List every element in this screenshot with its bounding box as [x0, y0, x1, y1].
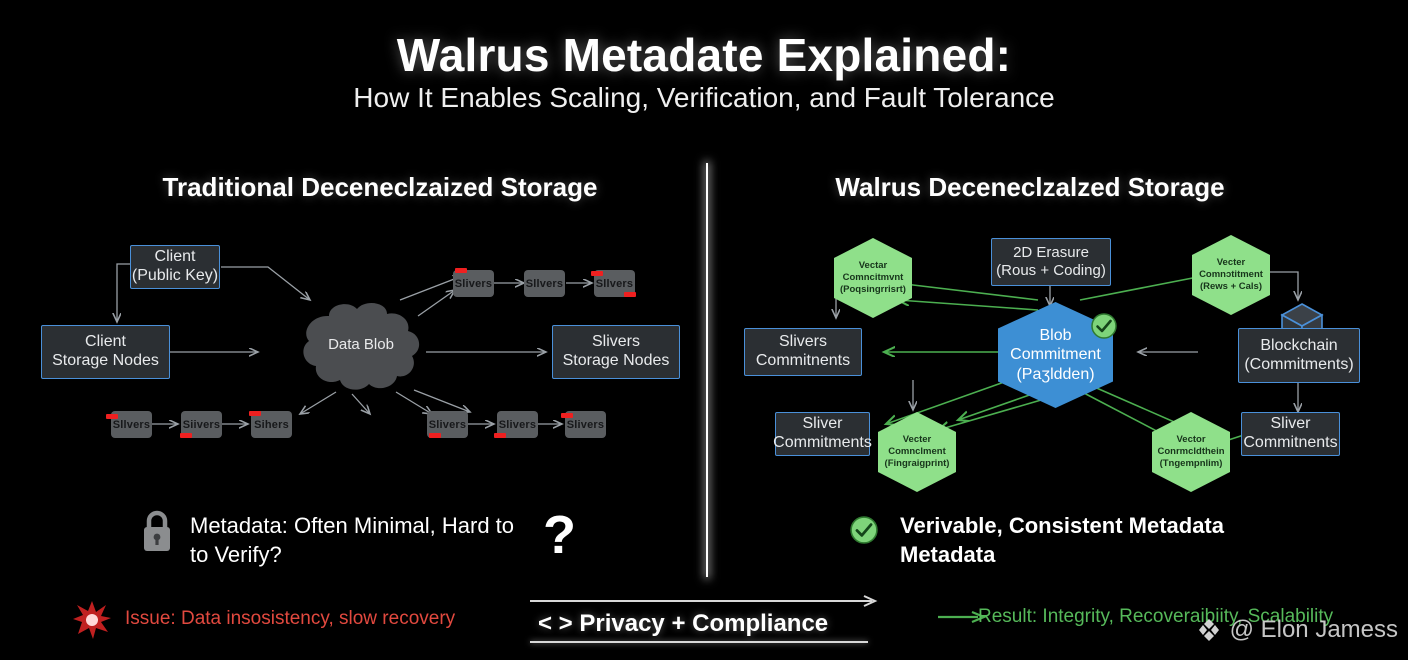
sliver-chip-label: Sllvers: [526, 278, 563, 290]
sliver-chip-label: Sllvers: [113, 419, 150, 431]
data-blob-label: Data Blob: [295, 336, 427, 353]
node-client-line2: (Public Key): [132, 267, 218, 286]
sliver-chip[interactable]: Slivers: [497, 411, 538, 438]
sliver-chip-label: Sihers: [254, 419, 289, 431]
sliver-damage-marker: [561, 413, 573, 418]
sliver-chip[interactable]: Sllvers: [524, 270, 565, 297]
erasure-line2: (Rous + Coding): [996, 262, 1106, 280]
blob-hex-line3: (Paʒldden): [1016, 366, 1094, 383]
left-summary-line2: to Verify?: [190, 541, 520, 570]
node-slivers-storage-line1: Slivers: [592, 333, 640, 352]
sliver-chip[interactable]: Sllvers: [111, 411, 152, 438]
node-slivers-storage-line2: Storage Nodes: [563, 352, 670, 371]
vector-commitment-top-right-hex[interactable]: Vecter Comnɔtitment (Rews + Cals): [1192, 235, 1270, 315]
sliver-chip-label: Sllvers: [596, 278, 633, 290]
hex-line2: Conrmcldthein: [1157, 446, 1224, 457]
erasure-line1: 2D Erasure: [1013, 244, 1089, 262]
sliver-chip-label: Slivers: [567, 419, 604, 431]
right-summary-line2: Metadata: [900, 541, 1320, 570]
right-summary-text: Verivable, Consistent Metadata Metadata: [900, 512, 1320, 569]
node-sliver-commitments[interactable]: Sliver Commitments: [775, 412, 870, 456]
node-client[interactable]: Client (Public Key): [130, 245, 220, 289]
watermark: @ Elon Jamess: [1196, 616, 1398, 644]
node-client-storage-nodes[interactable]: Client Storage Nodes: [41, 325, 170, 379]
left-footer-text: Issue: Data insosistency, slow recovery: [125, 608, 455, 630]
slivers-commitnents-line2: Commitnents: [756, 352, 850, 371]
data-blob-cloud[interactable]: Data Blob: [295, 300, 427, 392]
question-mark-icon: ?: [543, 508, 576, 562]
node-slivers-storage-nodes[interactable]: Slivers Storage Nodes: [552, 325, 680, 379]
sliver-damage-marker: [180, 433, 192, 438]
node-2d-erasure[interactable]: 2D Erasure (Rous + Coding): [991, 238, 1111, 286]
sliver-commitnents-right-line2: Commitnents: [1243, 434, 1337, 453]
hex-line1: Vecter: [903, 434, 932, 445]
sliver-damage-marker: [591, 271, 603, 276]
hex-text: Vecter Comnɔtitment (Rews + Cals): [1192, 257, 1270, 293]
sliver-chip[interactable]: Siivers: [181, 411, 222, 438]
node-client-storage-line1: Client: [85, 333, 126, 352]
hex-line3: (Poqsingrrisrt): [840, 284, 906, 295]
hex-line1: Vector: [1176, 434, 1205, 445]
left-connector-lines: [0, 0, 708, 470]
hex-line3: (Rews + Cals): [1200, 281, 1262, 292]
hex-text: Vectar Comncitmvnt (Poqsingrrisrt): [834, 260, 912, 296]
sliver-damage-marker: [429, 433, 441, 438]
sliver-commitments-line1: Sliver: [802, 415, 842, 434]
node-sliver-commitnents-right[interactable]: Sliver Commitnents: [1241, 412, 1340, 456]
hex-line3: (Tngempnlim): [1160, 458, 1223, 469]
sliver-chip[interactable]: Sllvers: [594, 270, 635, 297]
lock-icon: [139, 508, 175, 554]
node-client-storage-line2: Storage Nodes: [52, 352, 159, 371]
blockchain-line1: Blockchain: [1260, 337, 1337, 356]
center-footer-text: < > Privacy + Compliance: [530, 606, 880, 641]
slide-canvas: Walrus Metadate Explained: How It Enable…: [0, 0, 1408, 660]
slivers-commitnents-line1: Slivers: [779, 333, 827, 352]
vector-commitment-bottom-left-hex[interactable]: Vecter Comnclment (Fingraigprint): [878, 412, 956, 492]
sliver-damage-marker: [624, 292, 636, 297]
sliver-chip[interactable]: Sihers: [251, 411, 292, 438]
sliver-chip-label: Siivers: [183, 419, 220, 431]
diamond-logo-icon: [1196, 617, 1222, 643]
sliver-chip[interactable]: Slivers: [453, 270, 494, 297]
sliver-damage-marker: [106, 414, 118, 419]
hex-text: Vecter Comnclment (Fingraigprint): [878, 434, 956, 470]
blob-hex-text: Blob Commitment (Paʒldden): [998, 326, 1113, 385]
sliver-damage-marker: [249, 411, 261, 416]
blockchain-line2: (Commitments): [1244, 356, 1353, 375]
check-circle-icon: [850, 516, 878, 544]
center-footer-underline: [530, 641, 868, 643]
blob-hex-line1: Blob: [1039, 327, 1071, 344]
vector-commitment-top-left-hex[interactable]: Vectar Comncitmvnt (Poqsingrrisrt): [834, 238, 912, 318]
watermark-text: @ Elon Jamess: [1230, 616, 1398, 644]
hex-line1: Vecter: [1217, 257, 1246, 268]
hex-text: Vector Conrmcldthein (Tngempnlim): [1152, 434, 1230, 470]
left-summary-text: Metadata: Often Minimal, Hard to to Veri…: [190, 512, 520, 569]
hex-line3: (Fingraigprint): [885, 458, 950, 469]
sliver-damage-marker: [494, 433, 506, 438]
sliver-chip-label: Slivers: [455, 278, 492, 290]
arrow-right-icon: [530, 596, 880, 606]
explosion-icon: [72, 600, 112, 640]
sliver-commitments-line2: Commitments: [773, 434, 872, 453]
sliver-chip-label: Slivers: [429, 419, 466, 431]
node-blockchain[interactable]: Blockchain (Commitments): [1238, 328, 1360, 383]
blob-hex-line2: Commitment: [1010, 346, 1101, 363]
right-summary-line1: Verivable, Consistent Metadata: [900, 512, 1320, 541]
sliver-commitnents-right-line1: Sliver: [1270, 415, 1310, 434]
hex-line1: Vectar: [859, 260, 888, 271]
hex-line2: Comncitmvnt: [843, 272, 904, 283]
sliver-chip[interactable]: Slivers: [427, 411, 468, 438]
sliver-chip-label: Slivers: [499, 419, 536, 431]
center-footer: < > Privacy + Compliance: [530, 596, 880, 643]
node-slivers-commitnents[interactable]: Slivers Commitnents: [744, 328, 862, 376]
vector-commitment-bottom-right-hex[interactable]: Vector Conrmcldthein (Tngempnlim): [1152, 412, 1230, 492]
left-summary-line1: Metadata: Often Minimal, Hard to: [190, 512, 520, 541]
sliver-damage-marker: [455, 268, 467, 273]
hex-line2: Comnclment: [888, 446, 946, 457]
hex-line2: Comnɔtitment: [1199, 269, 1263, 280]
node-client-line1: Client: [155, 248, 196, 267]
sliver-chip[interactable]: Slivers: [565, 411, 606, 438]
